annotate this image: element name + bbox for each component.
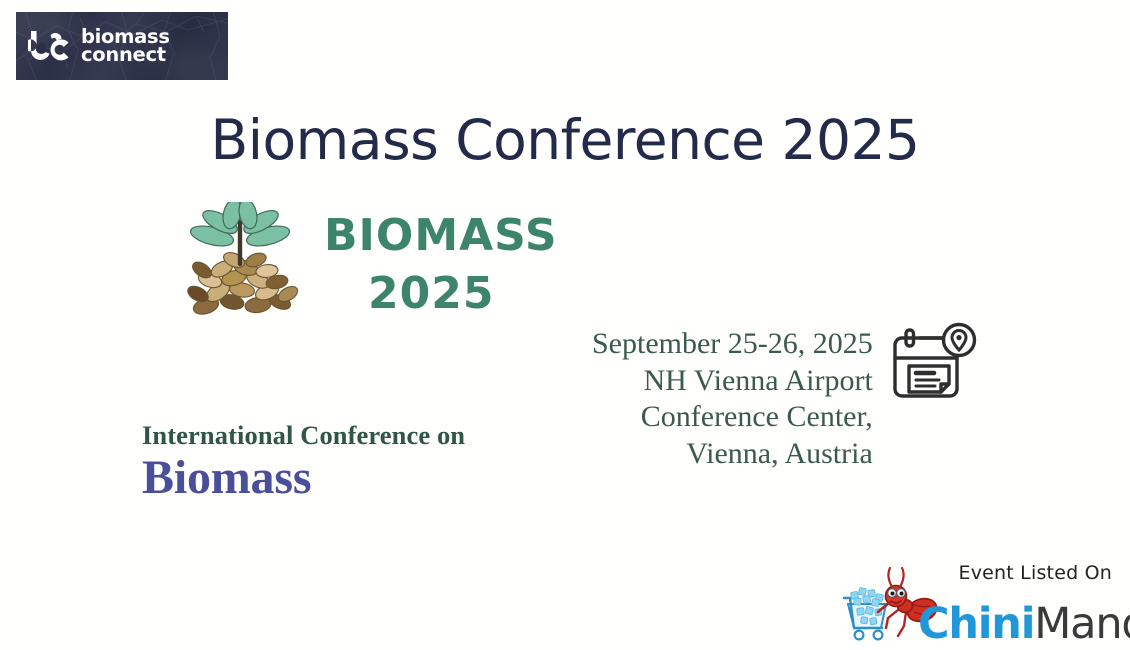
poster-canvas: biomass connect Biomass Conference 2025: [0, 0, 1130, 650]
venue-text: September 25-26, 2025 NH Vienna Airport …: [592, 320, 873, 472]
venue-line-city: Vienna, Austria: [592, 436, 873, 473]
bc-monogram-icon: [28, 29, 74, 63]
biomass-connect-wordmark: biomass connect: [81, 28, 170, 65]
venue-line-center: Conference Center,: [592, 399, 873, 436]
biomass-connect-logo: biomass connect: [16, 12, 228, 80]
chinimandi-footer: Event Listed On: [840, 560, 1130, 648]
event-logo-word-year: 2025: [368, 272, 558, 316]
venue-line-hotel: NH Vienna Airport: [592, 363, 873, 400]
seedling-on-wood-pellets-icon: [176, 202, 308, 332]
page-title: Biomass Conference 2025: [0, 108, 1130, 172]
chinimandi-wordmark: Chini Mandi .com: [918, 603, 1130, 646]
conference-name-block: International Conference on Biomass: [142, 420, 465, 503]
event-logo-wordmark: BIOMASS 2025: [324, 202, 558, 316]
calendar-location-icon: [887, 320, 979, 412]
conference-name-line1: International Conference on: [142, 420, 465, 451]
venue-block: September 25-26, 2025 NH Vienna Airport …: [592, 320, 979, 472]
chinimandi-word-mandi: Mandi: [1034, 603, 1130, 646]
event-logo-word-biomass: BIOMASS: [324, 214, 558, 258]
event-logo-lockup: BIOMASS 2025: [176, 202, 558, 332]
conference-name-line2: Biomass: [142, 453, 465, 503]
chinimandi-word-chini: Chini: [918, 603, 1034, 646]
bc-word-line2: connect: [81, 46, 170, 64]
venue-line-date: September 25-26, 2025: [592, 326, 873, 363]
event-listed-on-label: Event Listed On: [959, 562, 1112, 584]
